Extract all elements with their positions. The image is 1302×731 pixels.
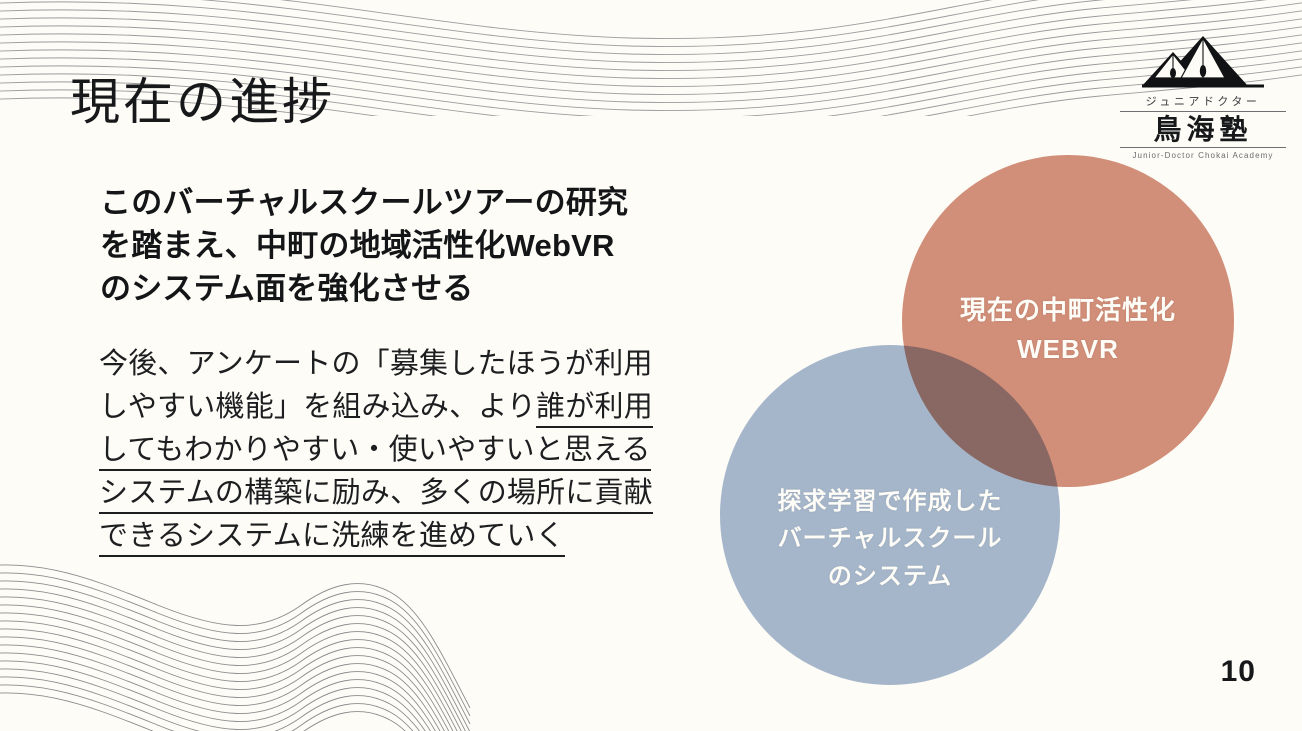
logo-name: 鳥海塾 — [1120, 112, 1286, 148]
emphasis-line-1: このバーチャルスクールツアーの研究 — [100, 182, 725, 225]
note-line-4-underlined: システムの構築に励み、多くの場所に貢献 — [99, 477, 653, 514]
note-line-3: してもわかりやすい・使いやすいと思える — [99, 429, 739, 472]
note-line-1-plain: 今後、アンケートの「募集したほうが利用 — [99, 348, 653, 380]
venn-circle-webvr-label: 現在の中町活性化 WEBVR — [960, 291, 1176, 369]
note-line-2: しやすい機能」を組み込み、より誰が利用 — [99, 386, 739, 429]
venn-webvr-line-2: WEBVR — [960, 330, 1176, 369]
logo: ジュニアドクター 鳥海塾 Junior-Doctor Chokai Academ… — [1120, 30, 1286, 172]
page-title: 現在の進捗 — [70, 62, 335, 134]
emphasis-paragraph: このバーチャルスクールツアーの研究 を踏まえ、中町の地域活性化WebVR のシス… — [100, 182, 725, 310]
mountain-icon — [1128, 30, 1278, 92]
venn-school-line-1: 探求学習で作成した — [778, 483, 1003, 520]
note-line-1: 今後、アンケートの「募集したほうが利用 — [99, 343, 739, 386]
venn-school-line-2: バーチャルスクール — [778, 520, 1003, 557]
venn-school-line-3: のシステム — [778, 558, 1003, 595]
venn-circle-school: 探求学習で作成した バーチャルスクール のシステム — [720, 345, 1060, 685]
emphasis-line-2: を踏まえ、中町の地域活性化WebVR — [100, 225, 725, 268]
note-line-2-underlined: 誰が利用 — [536, 391, 653, 428]
note-line-3-underlined: してもわかりやすい・使いやすいと思える — [99, 434, 651, 471]
wave-lines-bottom-icon — [0, 530, 490, 731]
logo-kana: ジュニアドクター — [1120, 93, 1286, 112]
slide-canvas: 現在の進捗 このバーチャルスクールツアーの研究 を踏まえ、中町の地域活性化Web… — [0, 0, 1302, 731]
venn-webvr-line-1: 現在の中町活性化 — [960, 291, 1176, 330]
venn-circle-school-label: 探求学習で作成した バーチャルスクール のシステム — [778, 483, 1003, 595]
note-paragraph: 今後、アンケートの「募集したほうが利用 しやすい機能」を組み込み、より誰が利用 … — [99, 343, 739, 558]
note-line-4: システムの構築に励み、多くの場所に貢献 — [99, 472, 739, 515]
logo-english-subtitle: Junior-Doctor Chokai Academy — [1120, 151, 1286, 160]
note-line-5: できるシステムに洗練を進めていく — [99, 515, 739, 558]
note-line-5-underlined: できるシステムに洗練を進めていく — [99, 520, 565, 557]
note-line-2-plain: しやすい機能」を組み込み、より — [99, 391, 536, 423]
emphasis-line-3: のシステム面を強化させる — [100, 268, 725, 311]
venn-diagram: 現在の中町活性化 WEBVR 探求学習で作成した バーチャルスクール のシステム — [700, 120, 1302, 680]
page-number: 10 — [1221, 655, 1256, 689]
